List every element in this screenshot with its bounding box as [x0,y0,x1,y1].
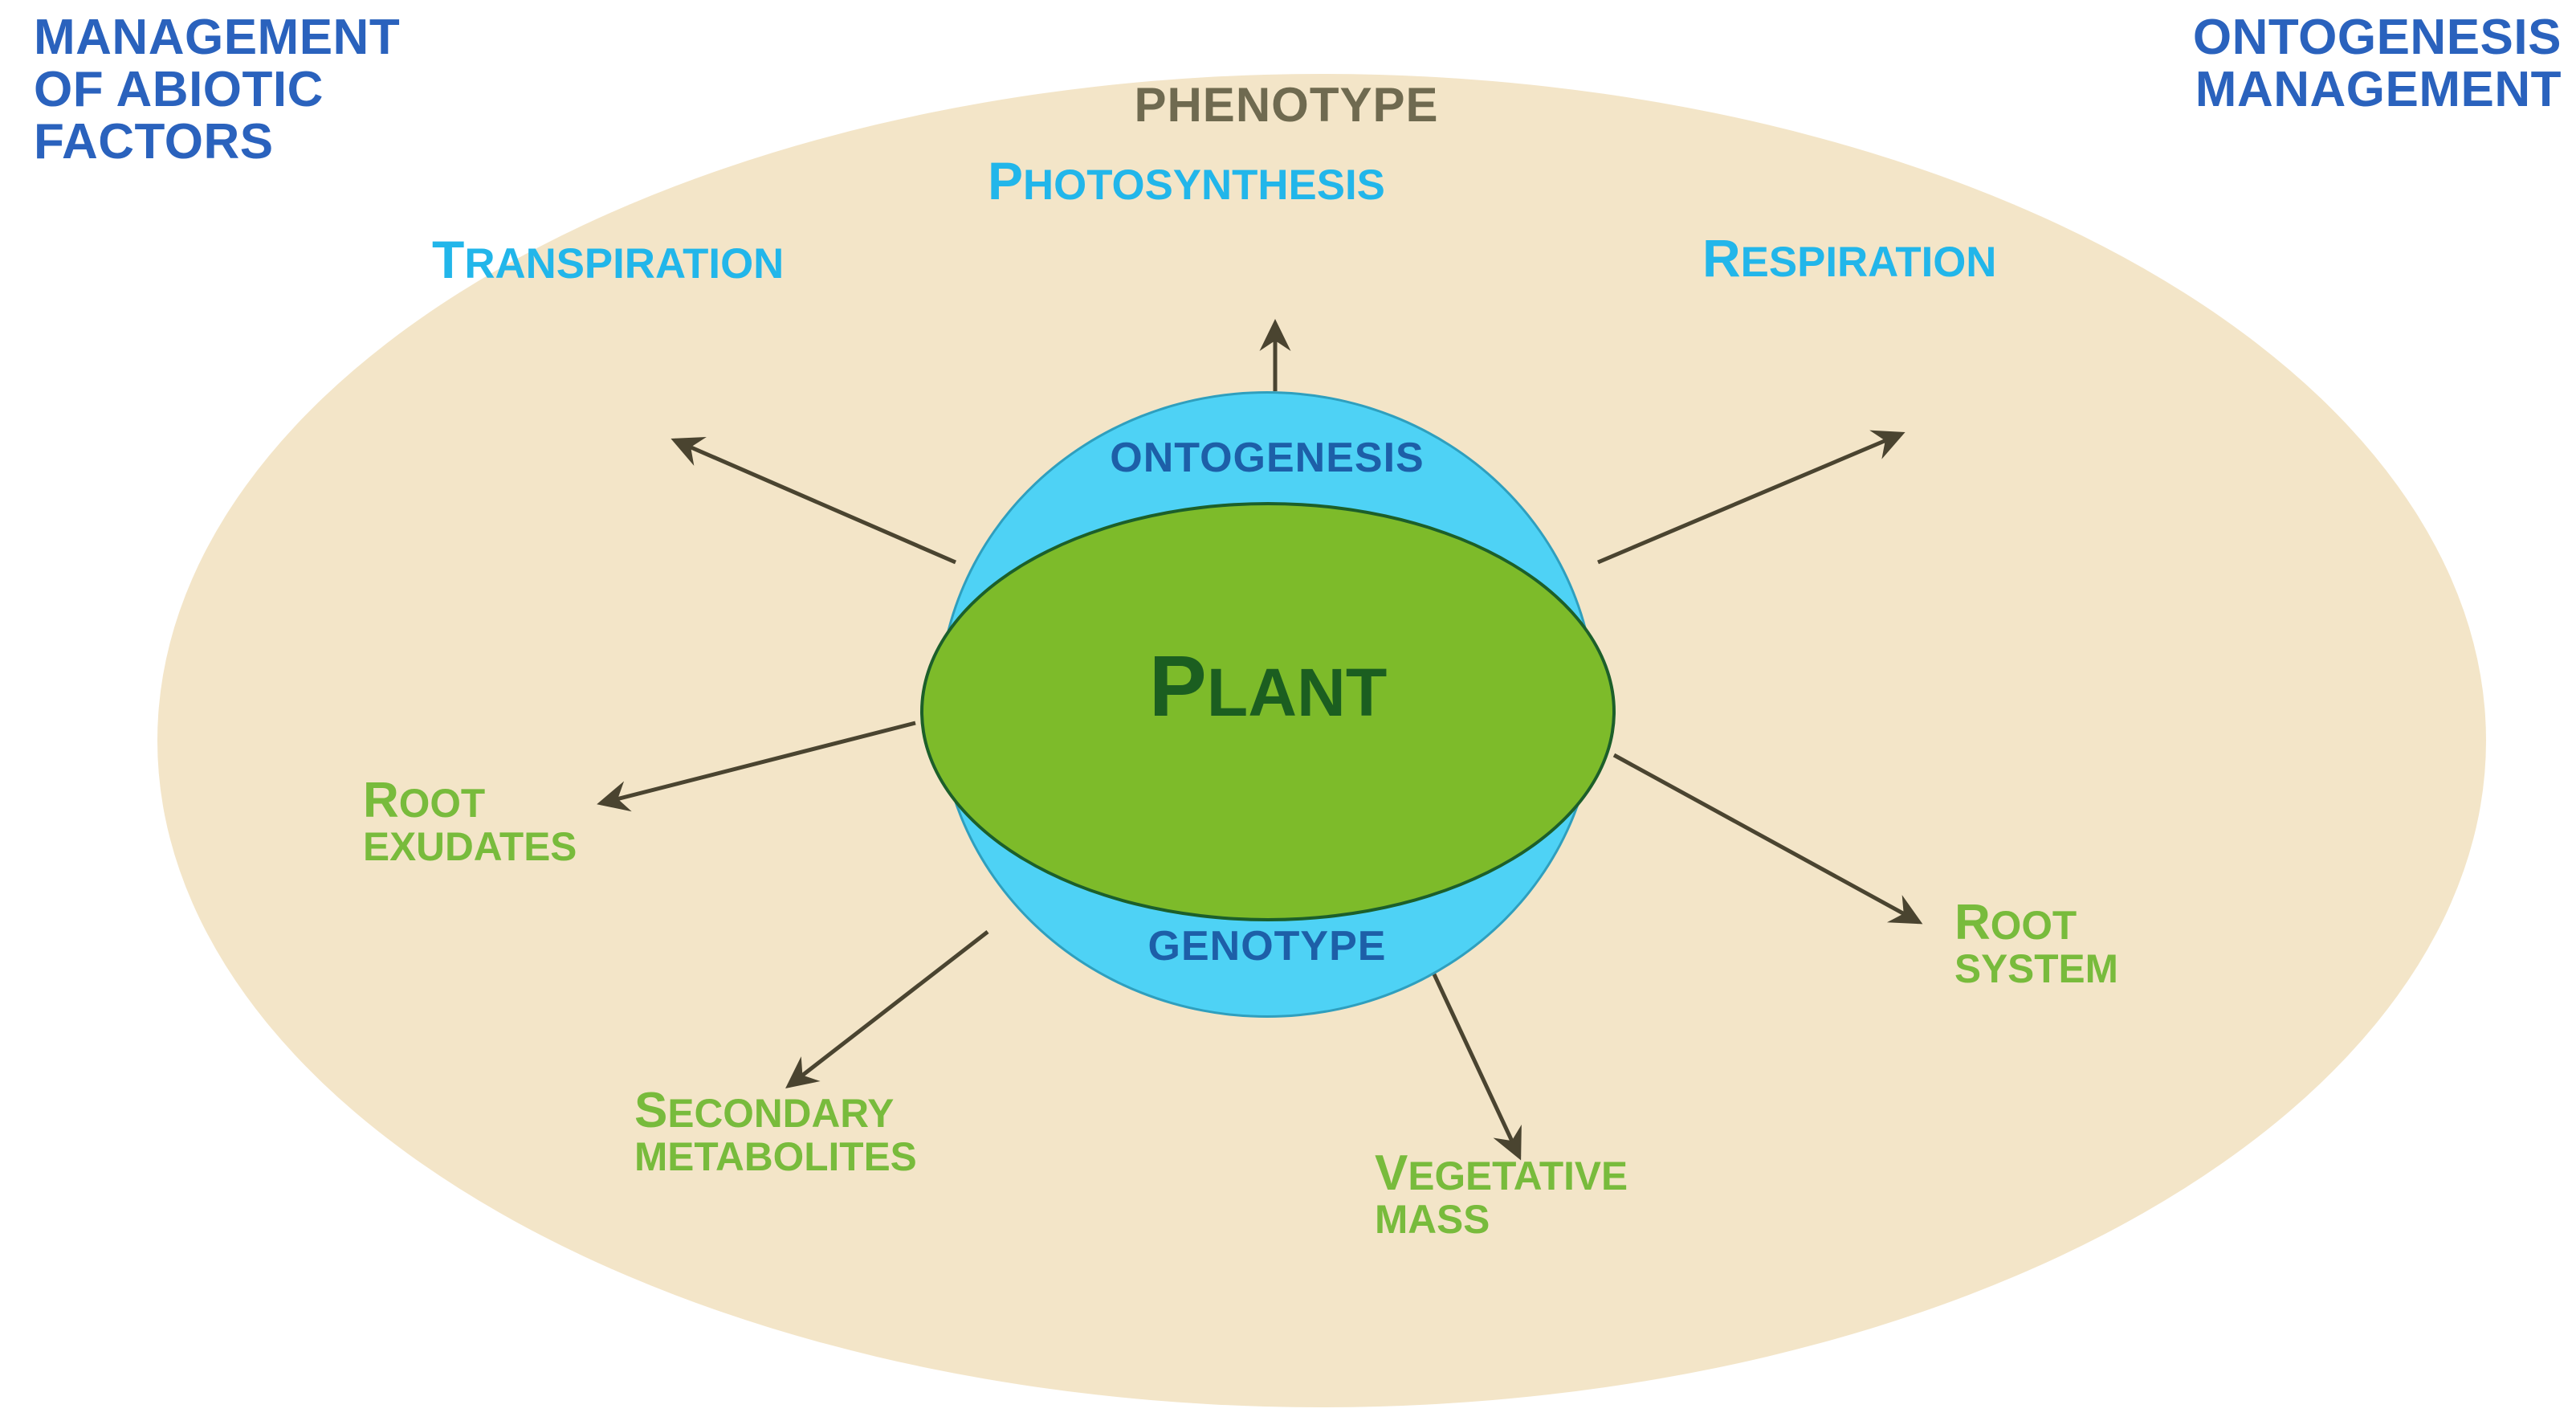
label-photosynthesis: PHOTOSYNTHESIS [988,154,1385,207]
title-management-of-abiotic-factors: MANAGEMENT OF ABIOTIC FACTORS [34,11,644,168]
title-right-line-1: ONTOGENESIS [1919,11,2562,63]
label-respiration-cap: R [1702,228,1741,288]
title-ontogenesis-management: ONTOGENESIS MANAGEMENT [1919,11,2562,116]
label-root-system-cap: R [1954,895,1991,950]
label-vegetative-mass-rest: EGETATIVE [1408,1153,1628,1198]
label-vegetative-mass: VEGETATIVE MASS [1375,1149,1628,1240]
label-secondary-metabolites-line2: METABOLITES [634,1137,917,1178]
label-vegetative-mass-line2: MASS [1375,1200,1628,1240]
label-root-system-rest: OOT [1991,903,2077,948]
label-root-exudates-cap: R [363,773,399,828]
label-transpiration-cap: T [432,230,464,289]
core-label-genotype: GENOTYPE [938,922,1596,970]
label-transpiration-rest: RANSPIRATION [464,240,784,288]
title-right-line-2: MANAGEMENT [1919,63,2562,116]
label-root-exudates-line2: EXUDATES [363,827,577,868]
label-secondary-metabolites-rest: ECONDARY [667,1091,894,1136]
label-vegetative-mass-cap: V [1375,1145,1408,1201]
label-secondary-metabolites: SECONDARY METABOLITES [634,1086,917,1178]
phenotype-heading: PHENOTYPE [1021,77,1551,133]
core-label-plant-rest: LANT [1207,655,1388,730]
label-root-system-line2: SYSTEM [1954,949,2118,990]
label-respiration: RESPIRATION [1702,231,1996,284]
title-left-line-2: OF ABIOTIC [34,63,644,116]
diagram-canvas: MANAGEMENT OF ABIOTIC FACTORS ONTOGENESI… [0,0,2576,1425]
title-left-line-3: FACTORS [34,116,644,168]
label-secondary-metabolites-cap: S [634,1083,667,1138]
core-label-plant: PLANT [920,643,1616,729]
label-root-exudates: ROOT EXUDATES [363,776,577,868]
label-photosynthesis-rest: HOTOSYNTHESIS [1023,161,1385,209]
label-root-system: ROOT SYSTEM [1954,898,2118,990]
label-root-exudates-rest: OOT [399,781,485,826]
label-photosynthesis-cap: P [988,151,1023,210]
label-transpiration: TRANSPIRATION [432,233,784,286]
label-respiration-rest: ESPIRATION [1741,239,1997,286]
core-label-plant-cap: P [1149,637,1207,734]
core-label-ontogenesis: ONTOGENESIS [938,434,1596,482]
title-left-line-1: MANAGEMENT [34,11,644,63]
